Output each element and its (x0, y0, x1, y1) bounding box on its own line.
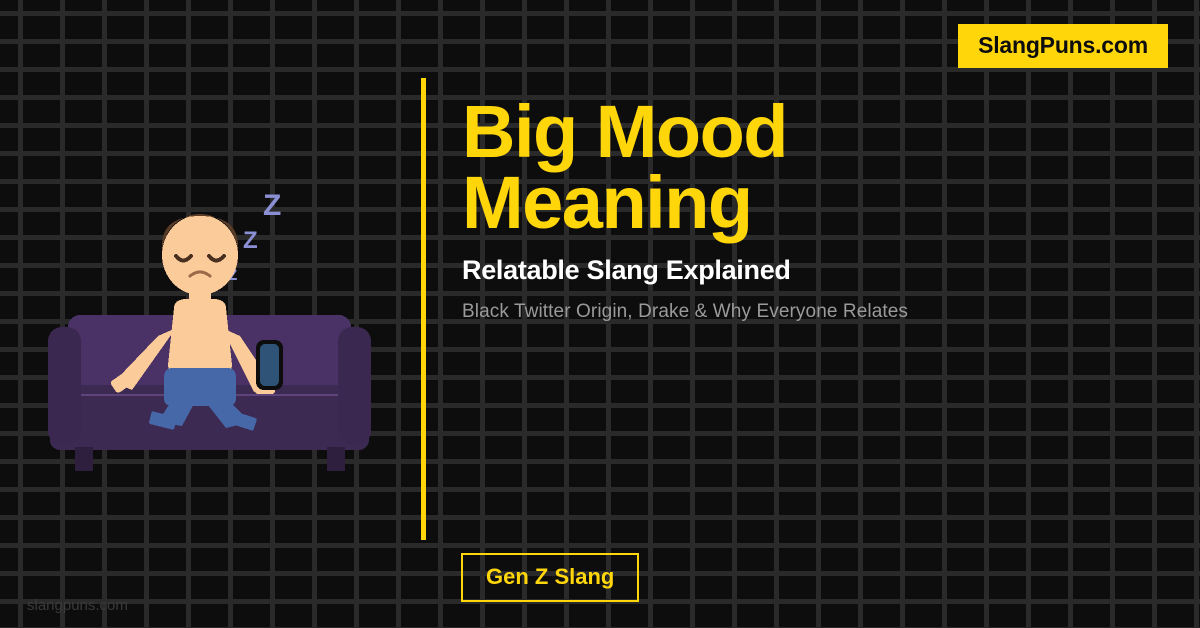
brand-badge[interactable]: SlangPuns.com (958, 24, 1168, 68)
tired-person-on-couch-illustration: Z Z z (0, 150, 420, 490)
poster-canvas: SlangPuns.com Z Z z (0, 0, 1200, 628)
phone-screen (260, 344, 279, 386)
page-title: Big Mood Meaning (462, 96, 1162, 238)
couch-leg-left (75, 447, 93, 471)
category-tag[interactable]: Gen Z Slang (461, 553, 639, 602)
hero-text-column: Big Mood Meaning Relatable Slang Explain… (462, 96, 1162, 323)
couch-arm-left (48, 327, 81, 445)
sleep-z-medium: Z (243, 227, 258, 254)
page-subtitle: Relatable Slang Explained (462, 255, 1162, 286)
watermark: slangpuns.com (27, 597, 128, 614)
head (162, 215, 238, 295)
couch-leg-right (327, 447, 345, 471)
page-tagline: Black Twitter Origin, Drake & Why Everyo… (462, 301, 1162, 323)
vertical-divider (421, 78, 426, 540)
sleep-z-large: Z (263, 189, 281, 222)
page-title-line-2: Meaning (462, 167, 1162, 238)
page-title-line-1: Big Mood (462, 96, 1162, 167)
torso (168, 299, 232, 372)
phone (256, 340, 283, 390)
couch-arm-right (338, 327, 371, 445)
